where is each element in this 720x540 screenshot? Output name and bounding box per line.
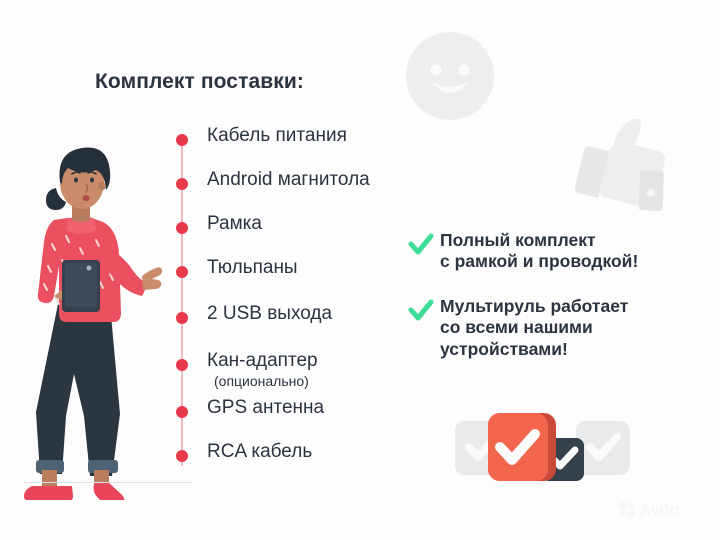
list-item-label: GPS антенна — [207, 398, 324, 419]
avito-watermark: Avito — [618, 500, 679, 520]
list-item-label: Кан-адаптер — [207, 351, 318, 372]
woman-pointing-illustration — [10, 108, 180, 500]
check-icon — [408, 297, 434, 323]
list-item-sublabel: (опционально) — [214, 373, 309, 389]
feature-callout: Полный комплект с рамкой и проводкой! — [408, 230, 638, 273]
list-item-label: RCA кабель — [207, 442, 312, 463]
list-item-label: Тюльпаны — [207, 258, 298, 279]
feature-label: Полный комплект с рамкой и проводкой! — [440, 230, 638, 273]
ground-line — [24, 482, 192, 483]
smiley-face-icon — [404, 30, 496, 122]
check-icon — [408, 231, 434, 257]
list-item-label: Рамка — [207, 214, 262, 235]
feature-callout: Мультируль работает со всеми нашими устр… — [408, 296, 628, 360]
thumbs-up-icon — [572, 108, 684, 212]
page-title: Комплект поставки: — [95, 70, 304, 94]
list-item-label: 2 USB выхода — [207, 304, 332, 325]
promo-canvas: Комплект поставки: Кабель питания Androi… — [0, 0, 720, 540]
feature-label: Мультируль работает со всеми нашими устр… — [440, 296, 628, 360]
avito-logo-icon — [618, 501, 636, 519]
checkbox-group-icon — [455, 405, 630, 493]
list-item-label: Кабель питания — [207, 126, 347, 147]
avito-watermark-label: Avito — [639, 500, 679, 520]
list-item-label: Android магнитола — [207, 170, 370, 191]
